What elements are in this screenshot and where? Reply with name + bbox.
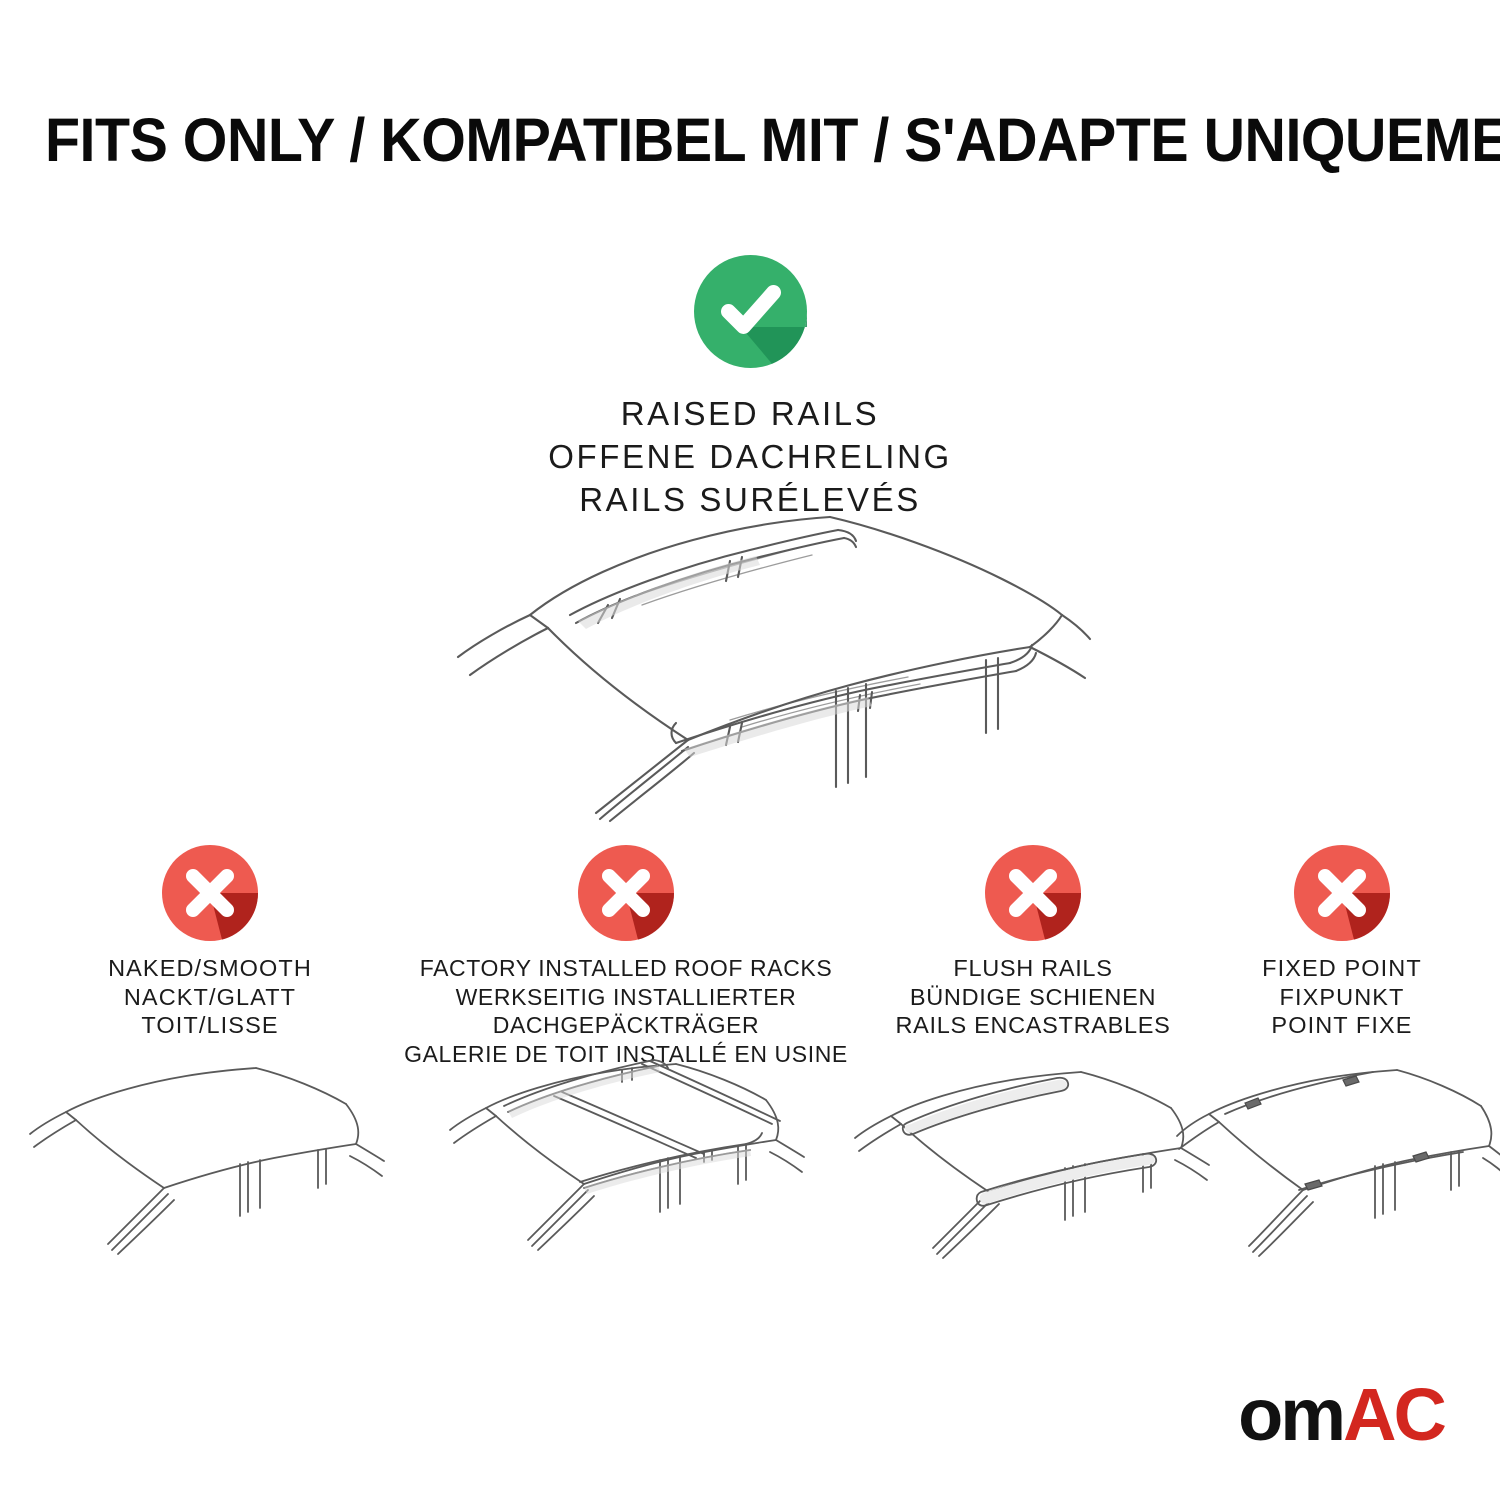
incompatible-item-factory-racks: FACTORY INSTALLED ROOF RACKS WERKSEITIG … [398, 845, 854, 1068]
compatible-section: RAISED RAILS OFFENE DACHRELING RAILS SUR… [0, 255, 1500, 521]
incompatible-label-line-3: POINT FIXE [1208, 1011, 1476, 1040]
x-circle-icon [985, 845, 1081, 941]
incompatible-label-line-2: WERKSEITIG INSTALLIERTER [398, 983, 854, 1012]
incompatible-label-line-1: FACTORY INSTALLED ROOF RACKS [398, 954, 854, 983]
incompatible-label-line-1: FIXED POINT [1208, 954, 1476, 983]
x-circle-icon [578, 845, 674, 941]
car-roof-fixed-point-diagram [1177, 1060, 1500, 1285]
compatible-label-line-2: OFFENE DACHRELING [0, 435, 1500, 478]
incompatible-item-flush-rails: FLUSH RAILS BÜNDIGE SCHIENEN RAILS ENCAS… [872, 845, 1194, 1040]
incompatible-item-naked-smooth: NAKED/SMOOTH NACKT/GLATT TOIT/LISSE [40, 845, 380, 1040]
omac-logo-dark-part: om [1238, 1373, 1343, 1456]
incompatible-item-fixed-point: FIXED POINT FIXPUNKT POINT FIXE [1208, 845, 1476, 1040]
incompatible-label-line-3: RAILS ENCASTRABLES [872, 1011, 1194, 1040]
car-roof-raised-rails-diagram [430, 495, 1090, 825]
incompatible-label-line-1: FLUSH RAILS [872, 954, 1194, 983]
incompatible-label-line-1: NAKED/SMOOTH [40, 954, 380, 983]
incompatible-label-line-2: FIXPUNKT [1208, 983, 1476, 1012]
incompatible-label-line-2: BÜNDIGE SCHIENEN [872, 983, 1194, 1012]
incompatible-label-line-3: DACHGEPÄCKTRÄGER [398, 1011, 854, 1040]
incompatible-label-line-3: TOIT/LISSE [40, 1011, 380, 1040]
page-title: FITS ONLY / KOMPATIBEL MIT / S'ADAPTE UN… [45, 108, 1455, 172]
x-circle-icon [1294, 845, 1390, 941]
x-circle-icon [162, 845, 258, 941]
check-circle-icon [694, 255, 807, 368]
omac-logo-red-part: AC [1343, 1373, 1444, 1456]
compatible-label-line-1: RAISED RAILS [0, 392, 1500, 435]
car-roof-flush-rails-diagram [853, 1060, 1213, 1285]
omac-logo: omAC [1238, 1378, 1444, 1452]
car-roof-factory-racks-diagram [446, 1050, 806, 1275]
incompatible-label-line-2: NACKT/GLATT [40, 983, 380, 1012]
car-roof-naked-smooth-diagram [30, 1060, 390, 1285]
